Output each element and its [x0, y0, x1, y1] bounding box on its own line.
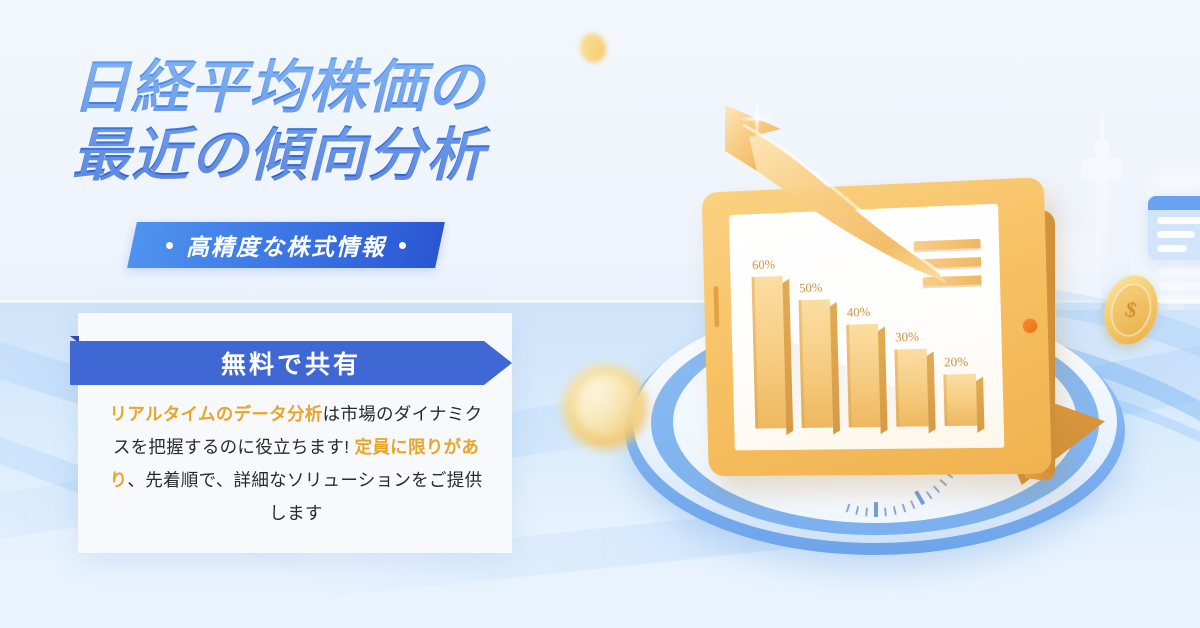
coin-dollar-right: $ — [1097, 270, 1164, 351]
page-title: 日経平均株価の 最近の傾向分析 — [72, 54, 632, 190]
chart-bar-label: 20% — [944, 353, 969, 370]
banner-canvas: 日経平均株価の 最近の傾向分析 高精度な株式情報 無料で共有 リアルタイムのデー… — [0, 0, 1200, 628]
hero-illustration: 60%50%40%30%20% $ — [555, 75, 1200, 585]
badge-dot-left — [166, 242, 173, 249]
subtitle-badge: 高精度な株式情報 — [127, 222, 445, 268]
sparkle-icon — [737, 99, 777, 139]
badge-dot-right — [399, 242, 406, 249]
subtitle-badge-label: 高精度な株式情報 — [186, 228, 386, 262]
card-body-text: リアルタイムのデータ分析は市場のダイナミクスを把握するのに役立ちます! 定員に限… — [106, 398, 486, 530]
chart-bar — [846, 324, 880, 427]
tablet-home-button — [1023, 318, 1038, 333]
chart-bar — [894, 349, 928, 427]
coin-blurred-left-highlight — [577, 375, 639, 437]
share-ribbon-label: 無料で共有 — [70, 341, 512, 385]
coin-dollar-symbol: $ — [1105, 279, 1157, 341]
growth-arrow-icon — [665, 95, 985, 335]
card-body-highlight-1: リアルタイムのデータ分析 — [110, 404, 323, 424]
card-body-plain-2: 、先着順で、詳細なソリューションをご提供します — [127, 470, 482, 523]
chart-bar — [943, 374, 977, 427]
